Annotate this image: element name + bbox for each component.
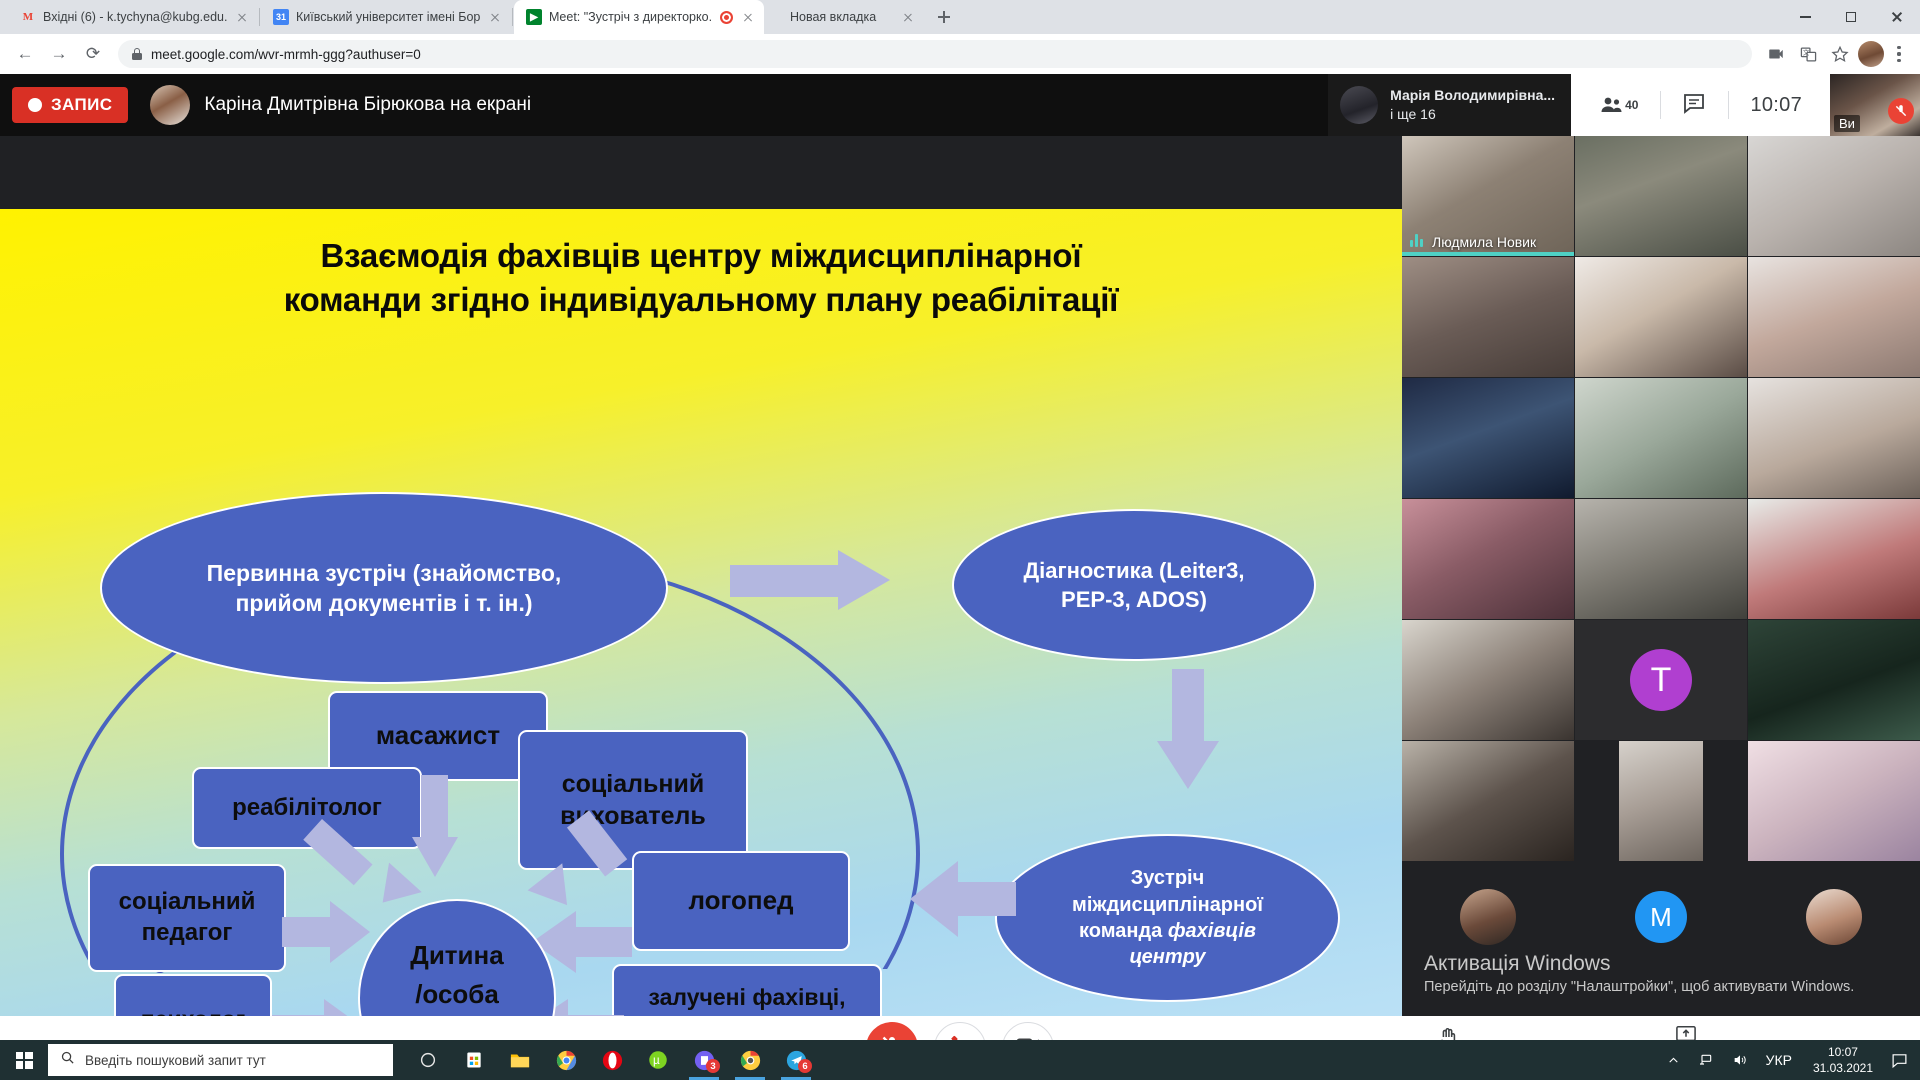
taskbar-date: 31.03.2021 (1813, 1060, 1873, 1076)
slide-title-line2: команди згідно індивідуальному плану реа… (0, 278, 1402, 322)
participant-tile[interactable] (1402, 741, 1574, 861)
center-line2: /особа (415, 975, 499, 1014)
recording-label: ЗАПИС (51, 95, 112, 115)
new-tab-button[interactable] (930, 3, 958, 31)
arrow-in-rehabilitologist (320, 813, 420, 913)
chrome-icon[interactable] (543, 1040, 589, 1080)
tab-title: Київський університет імені Бор... (296, 10, 480, 24)
participant-tile[interactable]: Людмила Новик (1402, 136, 1574, 256)
forward-button[interactable]: → (44, 39, 74, 69)
ellipse-diagnostics: Діагностика (Leiter3, PEP-3, ADOS) (952, 509, 1316, 661)
tab-title: Вхідні (6) - k.tychyna@kubg.edu... (43, 10, 227, 24)
participant-tile[interactable] (1748, 620, 1920, 740)
participant-tile[interactable] (1575, 741, 1747, 861)
address-bar[interactable]: meet.google.com/wvr-mrmh-ggg?authuser=0 (118, 40, 1752, 68)
team-meeting-line1: Зустріч (1131, 865, 1204, 891)
forward-arrow-icon: → (51, 44, 68, 64)
taskbar-time: 10:07 (1813, 1044, 1873, 1060)
involved-line1: залучені фахівці, (648, 983, 847, 1012)
back-arrow-icon: ← (17, 44, 34, 64)
chat-icon (1682, 91, 1706, 120)
ellipse-primary-meeting: Первинна зустріч (знайомство, прийом док… (100, 492, 668, 684)
participant-tile[interactable] (1748, 862, 1920, 972)
participant-name: Людмила Новик (1432, 234, 1536, 250)
participant-tile[interactable] (1748, 378, 1920, 498)
avatar (1460, 889, 1516, 945)
mini-participant-text: Марія Володимирівна... і ще 16 (1390, 86, 1555, 124)
center-line1: Дитина (410, 936, 503, 975)
team-meeting-line3-italic: фахівців (1168, 920, 1256, 942)
participants-count: 40 (1625, 98, 1638, 112)
telegram-icon[interactable]: 6 (773, 1040, 819, 1080)
browser-tab-university[interactable]: 31 Київський університет імені Бор... (261, 0, 511, 34)
ellipse-team-meeting: Зустріч міждисциплінарної команда фахівц… (995, 834, 1340, 1002)
profile-avatar[interactable] (1858, 41, 1884, 67)
window-controls (1782, 0, 1920, 34)
minimize-icon (1800, 16, 1811, 18)
participant-tile[interactable]: M (1575, 862, 1747, 972)
participant-tile[interactable] (1402, 499, 1574, 619)
tab-divider (512, 8, 513, 26)
taskbar-apps: µ 3 6 (405, 1040, 819, 1080)
avatar-initial: M (1635, 891, 1687, 943)
arrow-left-team (910, 861, 1016, 939)
people-icon (1599, 95, 1625, 115)
reload-icon: ⟳ (86, 44, 100, 64)
slide-title-line1: Взаємодія фахівців центру міждисциплінар… (0, 234, 1402, 278)
taskbar-search[interactable]: Введіть пошуковий запит тут (48, 1044, 393, 1076)
avatar (1806, 889, 1862, 945)
mini-participant-avatar (1340, 86, 1378, 124)
language-indicator[interactable]: УКР (1757, 1052, 1801, 1068)
team-meeting-line3: команда (1079, 920, 1162, 942)
arrow-down-diagnostics (1157, 669, 1219, 789)
avatar-initial: T (1630, 649, 1692, 711)
close-icon[interactable] (234, 9, 250, 25)
taskbar-clock[interactable]: 10:07 31.03.2021 (1801, 1044, 1885, 1076)
browser-toolbar: ← → ⟳ meet.google.com/wvr-mrmh-ggg?authu… (0, 34, 1920, 74)
recording-badge: ЗАПИС (12, 87, 128, 123)
reload-button[interactable]: ⟳ (78, 39, 108, 69)
search-icon (60, 1050, 75, 1070)
slide-title: Взаємодія фахівців центру міждисциплінар… (0, 234, 1402, 321)
participants-button[interactable]: 40 (1577, 83, 1660, 127)
gmail-icon: M (20, 9, 36, 25)
self-view-tile[interactable]: Ви (1830, 74, 1920, 136)
social-educator-line1: соціальний (560, 768, 706, 800)
presentation-stage: Взаємодія фахівців центру міждисциплінар… (0, 136, 1402, 1016)
speaking-indicator-icon (1410, 234, 1423, 247)
meet-header-actions: 40 10:07 (1571, 74, 1830, 136)
viber-icon[interactable]: 3 (681, 1040, 727, 1080)
google-meet-app: ЗАПИС Каріна Дмитрівна Бірюкова на екран… (0, 74, 1920, 1080)
chrome-menu-icon[interactable] (1888, 43, 1910, 65)
record-dot-icon (28, 98, 42, 112)
box-speech-therapist: логопед (632, 851, 850, 951)
maximize-button[interactable] (1828, 0, 1874, 34)
primary-meeting-line2: прийом документів і т. ін.) (207, 588, 562, 618)
participant-tile[interactable] (1748, 741, 1920, 861)
language-text: УКР (1766, 1052, 1792, 1068)
mic-off-icon (1888, 98, 1914, 124)
participant-tile[interactable] (1575, 378, 1747, 498)
url-text: meet.google.com/wvr-mrmh-ggg?authuser=0 (151, 47, 421, 62)
action-center-icon[interactable] (1885, 1052, 1920, 1069)
mini-participant-chip[interactable]: Марія Володимирівна... і ще 16 (1328, 74, 1571, 136)
back-button[interactable]: ← (10, 39, 40, 69)
team-meeting-line2: міждисциплінарної (1072, 892, 1263, 918)
meet-icon: ▶ (526, 9, 542, 25)
presenter-chip: Каріна Дмитрівна Бірюкова на екрані (150, 85, 531, 125)
presenter-avatar (150, 85, 190, 125)
file-explorer-icon[interactable] (497, 1040, 543, 1080)
opera-icon[interactable] (589, 1040, 635, 1080)
participant-tile[interactable]: T (1575, 620, 1747, 740)
start-button[interactable] (0, 1040, 48, 1080)
utorrent-icon[interactable]: µ (635, 1040, 681, 1080)
self-view-label: Ви (1834, 115, 1860, 132)
browser-tab-gmail[interactable]: M Вхідні (6) - k.tychyna@kubg.edu... (8, 0, 258, 34)
masseur-label: масажист (376, 719, 500, 752)
translate-icon[interactable]: 文 (1794, 40, 1822, 68)
speaking-bar (1402, 252, 1574, 256)
meet-header-right: Марія Володимирівна... і ще 16 40 (1328, 74, 1920, 136)
close-icon[interactable] (487, 9, 503, 25)
windows-taskbar: Введіть пошуковий запит тут µ 3 6 УКР 10… (0, 1040, 1920, 1080)
cortana-icon[interactable] (405, 1040, 451, 1080)
system-tray: УКР 10:07 31.03.2021 (1658, 1040, 1920, 1080)
participant-tile[interactable] (1402, 378, 1574, 498)
social-pedagogue-line1: соціальний (119, 887, 256, 918)
social-pedagogue-line2: педагог (119, 918, 256, 949)
maximize-icon (1846, 12, 1856, 22)
telegram-badge: 6 (798, 1059, 812, 1073)
microsoft-store-icon[interactable] (451, 1040, 497, 1080)
cast-icon[interactable] (1762, 40, 1790, 68)
shared-slide: Взаємодія фахівців центру міждисциплінар… (0, 209, 1402, 1069)
participant-tile[interactable] (1575, 499, 1747, 619)
participant-tile[interactable] (1575, 136, 1747, 256)
arrow-in-social-pedagogue (282, 899, 372, 969)
minimize-button[interactable] (1782, 0, 1828, 34)
team-meeting-line4-italic: центру (1130, 946, 1206, 968)
network-icon[interactable] (1689, 1052, 1723, 1068)
chat-button[interactable] (1660, 83, 1728, 127)
participant-grid: Людмила Новик T (1402, 136, 1920, 1016)
speech-therapist-label: логопед (688, 884, 793, 917)
show-hidden-icons-button[interactable] (1658, 1054, 1689, 1067)
volume-icon[interactable] (1723, 1052, 1757, 1068)
svg-text:µ: µ (653, 1054, 660, 1067)
bookmark-star-icon[interactable] (1826, 40, 1854, 68)
mini-participant-name: Марія Володимирівна... (1390, 86, 1555, 105)
participant-tile[interactable] (1748, 257, 1920, 377)
svg-text:文: 文 (1802, 47, 1809, 56)
participant-tile[interactable] (1402, 620, 1574, 740)
diagnostics-line2: PEP-3, ADOS) (1023, 585, 1244, 614)
diagnostics-line1: Діагностика (Leiter3, (1023, 556, 1244, 585)
viber-badge: 3 (706, 1059, 720, 1073)
close-window-button[interactable] (1874, 0, 1920, 34)
browser-tab-strip: M Вхідні (6) - k.tychyna@kubg.edu... 31 … (0, 0, 1920, 34)
participant-tile[interactable] (1748, 136, 1920, 256)
participant-tile[interactable] (1402, 862, 1574, 972)
tab-title: Meet: "Зустріч з директорко... (549, 10, 713, 24)
calendar-icon: 31 (273, 9, 289, 25)
close-icon[interactable] (740, 9, 756, 25)
tab-recording-icon (720, 11, 733, 24)
participant-tile[interactable] (1748, 499, 1920, 619)
windows-logo-icon (16, 1052, 33, 1069)
clock-text: 10:07 (1750, 94, 1802, 117)
box-social-pedagogue: соціальний педагог (88, 864, 286, 972)
presenter-name: Каріна Дмитрівна Бірюкова на екрані (204, 94, 531, 116)
mini-participant-others: і ще 16 (1390, 106, 1436, 122)
search-placeholder: Введіть пошуковий запит тут (85, 1053, 266, 1068)
tab-divider (259, 8, 260, 26)
close-icon (1891, 11, 1903, 23)
browser-tab-newtab[interactable]: Новая вкладка (764, 0, 924, 34)
meet-header: ЗАПИС Каріна Дмитрівна Бірюкова на екран… (0, 74, 1920, 136)
participant-video (1619, 741, 1703, 861)
chrome-window-icon[interactable] (727, 1040, 773, 1080)
meet-clock: 10:07 (1728, 83, 1824, 127)
close-icon[interactable] (900, 9, 916, 25)
participant-tile[interactable] (1402, 257, 1574, 377)
browser-tab-meet[interactable]: ▶ Meet: "Зустріч з директорко... (514, 0, 764, 34)
arrow-right-top (730, 550, 890, 610)
primary-meeting-line1: Первинна зустріч (знайомство, (207, 558, 562, 588)
tab-title: Новая вкладка (776, 10, 893, 24)
participant-tile[interactable] (1575, 257, 1747, 377)
lock-icon (132, 48, 142, 60)
